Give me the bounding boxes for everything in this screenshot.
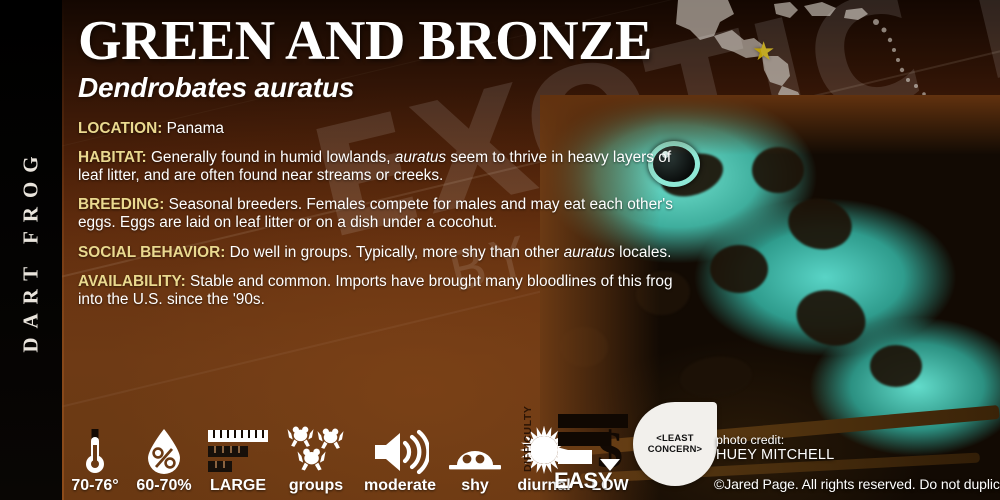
care-item-call-volume: moderate — [356, 410, 444, 494]
care-caption: shy — [461, 478, 489, 494]
fact-location: LOCATION: Panama — [78, 120, 698, 138]
sidebar-category-label: DART FROG — [19, 147, 44, 352]
fact-social-behavior: SOCIAL BEHAVIOR: Do well in groups. Typi… — [78, 244, 698, 262]
badge-line-2: CONCERN> — [648, 443, 702, 454]
scientific-name: Dendrobates auratus — [78, 73, 698, 104]
difficulty-bar — [558, 414, 628, 428]
care-item-humidity: 60-70% — [128, 410, 200, 494]
fact-text: Generally found in humid lowlands, aurat… — [78, 149, 671, 184]
care-item-temperature: 70-76° — [62, 410, 128, 494]
fact-label: AVAILABILITY: — [78, 273, 186, 290]
fact-habitat: HABITAT: Generally found in humid lowlan… — [78, 149, 698, 185]
frog-hiding-icon — [447, 425, 503, 475]
difficulty-caption: EASY — [554, 468, 612, 494]
photo-credit-label: photo credit: — [716, 433, 834, 447]
photo-credit: photo credit: HUEY MITCHELL — [716, 433, 834, 464]
fact-label: BREEDING: — [78, 196, 164, 213]
fact-label: SOCIAL BEHAVIOR: — [78, 244, 225, 261]
difficulty-bars — [558, 414, 630, 468]
care-item-size: LARGE — [200, 410, 276, 494]
star-location-marker: ★ — [752, 38, 775, 64]
difficulty-bar — [558, 450, 592, 464]
care-item-boldness: shy — [444, 410, 506, 494]
species-label-card: ★ EXOTIC PETS BY JARED PAGE DART FROG GR… — [0, 0, 1000, 500]
fact-availability: AVAILABILITY: Stable and common. Imports… — [78, 273, 698, 309]
difficulty-vertical-label: DIFFICULTY — [522, 406, 534, 472]
frog-group-icon — [285, 425, 347, 475]
care-item-social-grouping: groups — [276, 410, 356, 494]
content-block: GREEN AND BRONZE Dendrobates auratus LOC… — [78, 14, 698, 320]
fact-label: HABITAT: — [78, 149, 147, 166]
speaker-volume-icon — [371, 425, 429, 475]
badge-line-1: <LEAST — [656, 432, 693, 443]
difficulty-meter: DIFFICULTY EASY — [536, 410, 632, 494]
copyright-notice: ©Jared Page. All rights reserved. Do not… — [714, 476, 1000, 492]
facts-list: LOCATION: Panama HABITAT: Generally foun… — [78, 120, 698, 309]
category-sidebar: DART FROG — [0, 0, 62, 500]
care-caption: LARGE — [210, 478, 266, 494]
page-title: GREEN AND BRONZE — [78, 14, 698, 69]
fact-text: Seasonal breeders. Females compete for m… — [78, 196, 673, 231]
thermometer-icon — [80, 425, 110, 475]
care-caption: 70-76° — [71, 478, 118, 494]
photo-credit-name: HUEY MITCHELL — [716, 447, 834, 464]
care-caption: 60-70% — [136, 478, 191, 494]
fact-label: LOCATION: — [78, 120, 162, 137]
conservation-status-badge: <LEAST CONCERN> — [633, 402, 717, 486]
fact-text: Do well in groups. Typically, more shy t… — [225, 244, 671, 261]
difficulty-bar — [558, 432, 610, 446]
care-caption: groups — [289, 478, 343, 494]
fact-text: Panama — [162, 120, 224, 137]
humidity-drop-percent-icon — [144, 425, 184, 475]
care-caption: moderate — [364, 478, 436, 494]
fact-breeding: BREEDING: Seasonal breeders. Females com… — [78, 196, 698, 232]
ruler-size-icon — [207, 425, 269, 475]
